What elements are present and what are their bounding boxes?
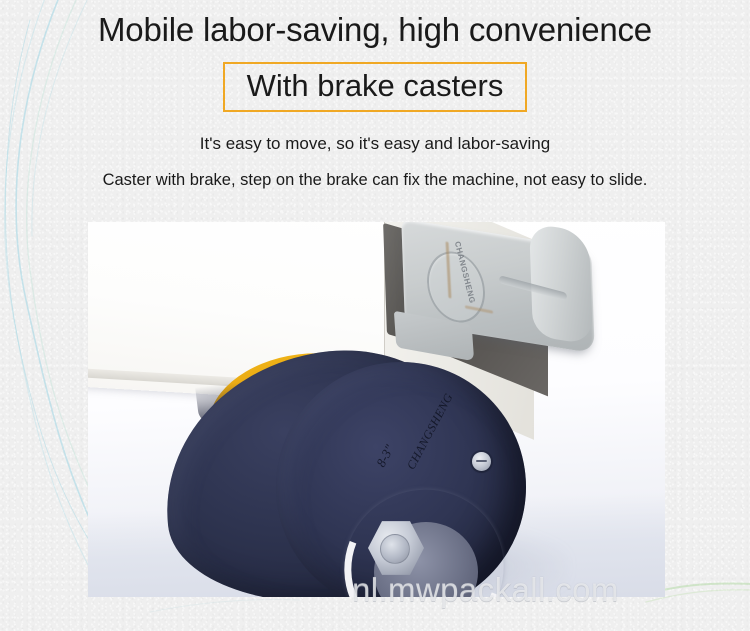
page-title: Mobile labor-saving, high convenience bbox=[0, 13, 750, 46]
subtitle-line-2: Caster with brake, step on the brake can… bbox=[0, 171, 750, 190]
header-section: Mobile labor-saving, high convenience Wi… bbox=[0, 0, 750, 190]
photo-content: CHANGSHENG 8-3" CHANGSHENG bbox=[88, 222, 665, 597]
boxed-title-wrapper: With brake casters bbox=[0, 62, 750, 112]
brake-pedal-assembly: CHANGSHENG bbox=[403, 234, 603, 354]
product-photo: CHANGSHENG 8-3" CHANGSHENG bbox=[88, 222, 665, 597]
caster-upper-screw bbox=[472, 452, 491, 471]
feature-highlight-box: With brake casters bbox=[223, 62, 528, 112]
brake-pedal-ridge bbox=[529, 223, 593, 345]
subtitle-line-1: It's easy to move, so it's easy and labo… bbox=[0, 134, 750, 154]
caster-axle-bolt-head bbox=[380, 534, 410, 564]
